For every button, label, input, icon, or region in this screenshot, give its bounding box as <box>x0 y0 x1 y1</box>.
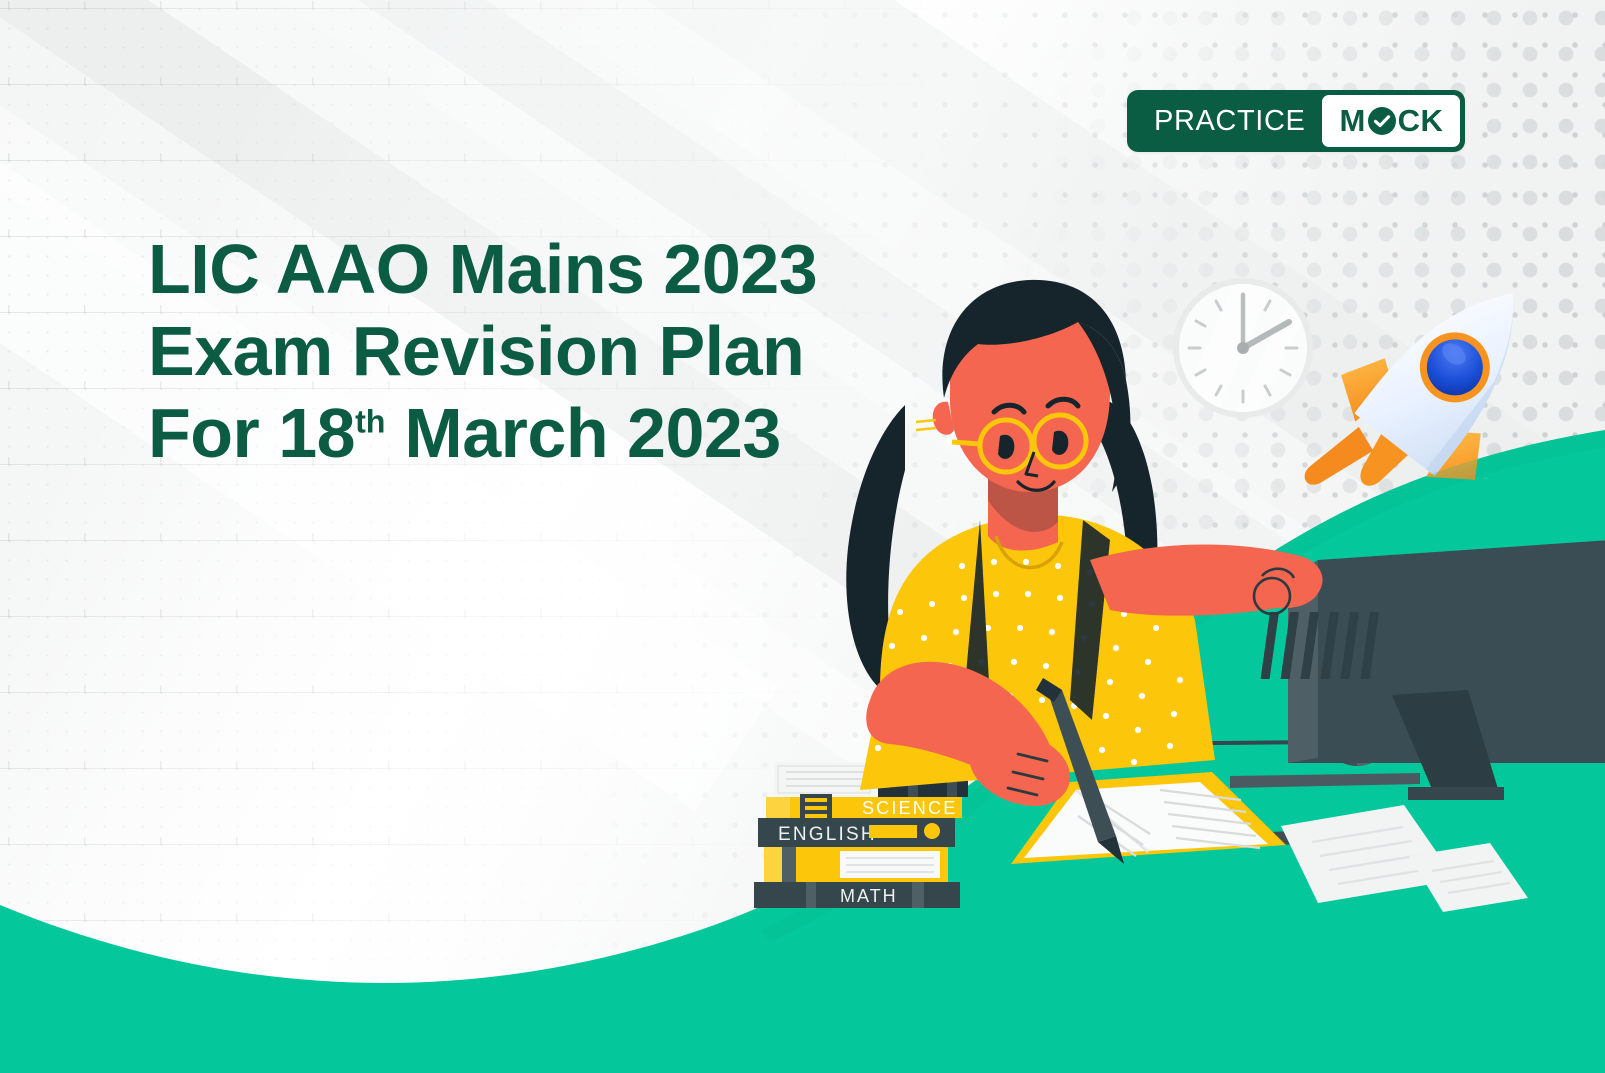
loose-paper-sheet-icon <box>1281 805 1528 912</box>
logo-word-practice: PRACTICE <box>1132 95 1322 147</box>
headline-line-3: For 18th March 2023 <box>148 392 908 474</box>
book-label-english: ENGLISH <box>778 824 877 845</box>
headline-line-3-suffix: March 2023 <box>385 394 780 472</box>
book-label-math: MATH <box>840 886 898 906</box>
headline-line-3-prefix: For 18 <box>148 394 355 472</box>
headline-line-2: Exam Revision Plan <box>148 310 908 392</box>
logo-letters-ck: CK <box>1398 103 1444 139</box>
wall-clock-icon <box>1170 278 1318 440</box>
check-circle-icon <box>1367 106 1397 136</box>
headline-ordinal-suffix: th <box>355 404 385 440</box>
practicemock-logo[interactable]: PRACTICE M CK <box>1127 90 1465 152</box>
banner-canvas: SCIENCE ENGLISH MATH <box>0 0 1605 1073</box>
headline-line-1: LIC AAO Mains 2023 <box>148 228 908 310</box>
logo-word-mock: M CK <box>1322 95 1460 147</box>
student-desk-illustration: SCIENCE ENGLISH MATH <box>0 0 1605 1073</box>
book-label-science: SCIENCE <box>862 798 957 818</box>
rocket-icon <box>1276 241 1580 563</box>
page-title: LIC AAO Mains 2023 Exam Revision Plan Fo… <box>148 228 908 474</box>
book-stack-icon: SCIENCE ENGLISH MATH <box>754 762 968 908</box>
logo-letter-m: M <box>1339 103 1365 139</box>
